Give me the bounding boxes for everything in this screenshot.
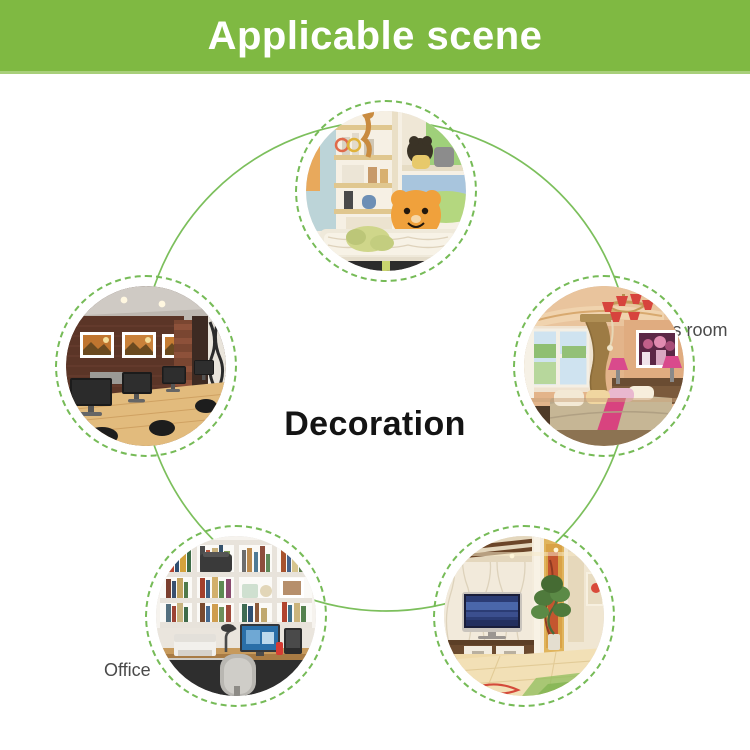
photo-study bbox=[156, 536, 316, 696]
node-living-room[interactable]: Living room bbox=[433, 525, 615, 707]
applicable-scene-infographic: Applicable scene bbox=[0, 0, 750, 750]
photo-children-room bbox=[306, 111, 466, 271]
page-title: Applicable scene bbox=[208, 16, 543, 56]
diagram-stage: Children's room bbox=[0, 73, 750, 750]
node-label-office: Office bbox=[104, 660, 151, 681]
node-children-room[interactable]: Children's room bbox=[295, 100, 477, 282]
photo-living-room bbox=[444, 536, 604, 696]
center-label: Decoration bbox=[0, 405, 750, 444]
header-bar: Applicable scene bbox=[0, 0, 750, 73]
node-study[interactable]: Study bbox=[145, 525, 327, 707]
